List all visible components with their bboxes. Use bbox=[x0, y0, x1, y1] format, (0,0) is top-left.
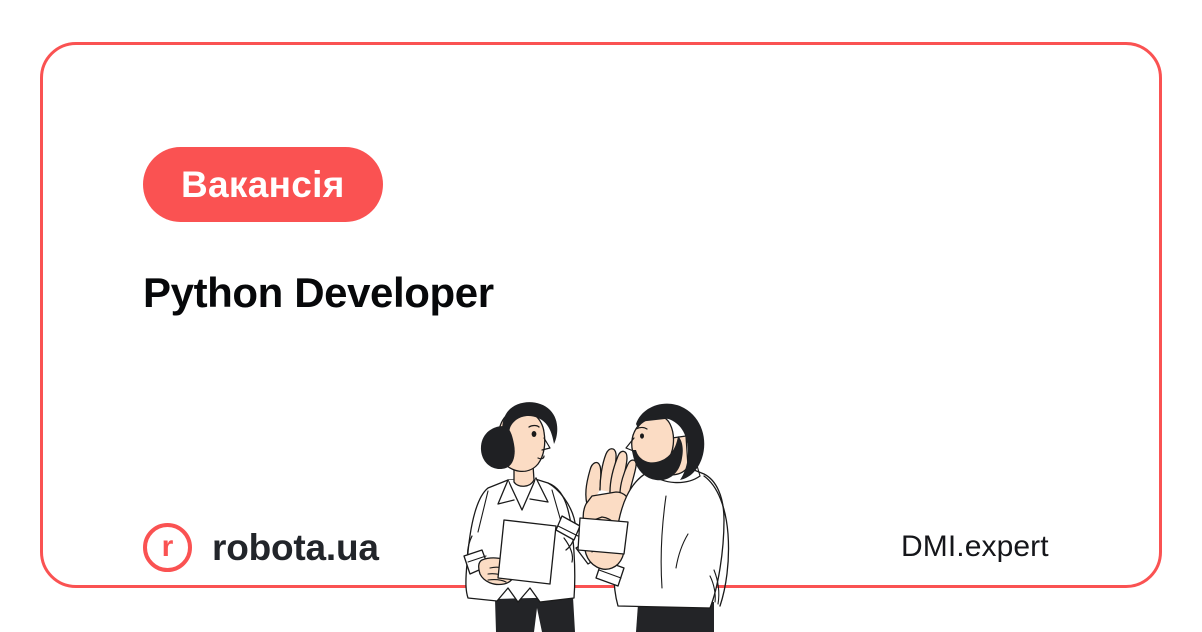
company-name: DMI.expert bbox=[901, 532, 1049, 562]
poster-canvas: Вакансія Python Developer r robota.ua DM… bbox=[0, 0, 1202, 632]
robota-brand[interactable]: r robota.ua bbox=[143, 523, 379, 572]
job-title: Python Developer bbox=[143, 269, 494, 317]
robota-logo-icon: r bbox=[143, 523, 192, 572]
vacancy-badge-label: Вакансія bbox=[181, 166, 345, 203]
robota-logo-letter: r bbox=[162, 532, 174, 562]
vacancy-badge: Вакансія bbox=[143, 147, 383, 222]
robota-brand-name: robota.ua bbox=[212, 529, 379, 566]
vacancy-card: Вакансія Python Developer r robota.ua DM… bbox=[40, 42, 1162, 588]
